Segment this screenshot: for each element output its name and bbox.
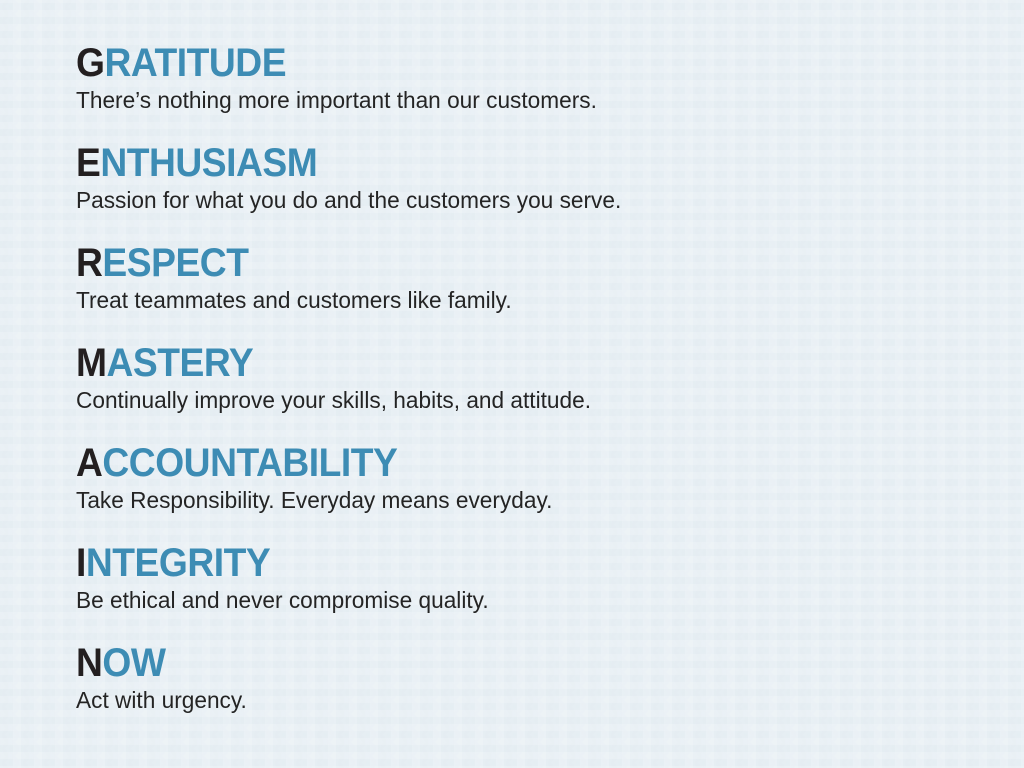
value-heading-initial: I bbox=[76, 541, 86, 585]
value-heading: NOW bbox=[76, 642, 237, 684]
value-heading-rest: NTHUSIASM bbox=[100, 141, 317, 185]
value-description: Take Responsibility. Everyday means ever… bbox=[76, 487, 552, 514]
value-heading: ENTHUSIASM bbox=[76, 142, 591, 184]
value-heading-rest: ESPECT bbox=[102, 241, 248, 285]
value-heading: GRATITUDE bbox=[76, 42, 568, 84]
value-heading-rest: ASTERY bbox=[107, 341, 254, 385]
value-block-now: NOW Act with urgency. bbox=[76, 642, 249, 714]
value-heading-initial: N bbox=[76, 641, 102, 685]
value-heading-rest: NTEGRITY bbox=[86, 541, 270, 585]
value-heading-initial: G bbox=[76, 41, 104, 85]
value-description: Continually improve your skills, habits,… bbox=[76, 387, 591, 414]
value-heading-rest: RATITUDE bbox=[104, 41, 286, 85]
value-heading-rest: OW bbox=[102, 641, 165, 685]
value-heading: ACCOUNTABILITY bbox=[76, 442, 526, 484]
value-description: Passion for what you do and the customer… bbox=[76, 187, 621, 214]
value-heading-initial: A bbox=[76, 441, 102, 485]
value-block-accountability: ACCOUNTABILITY Take Responsibility. Ever… bbox=[76, 442, 560, 514]
value-description: There’s nothing more important than our … bbox=[76, 87, 597, 114]
value-block-respect: RESPECT Treat teammates and customers li… bbox=[76, 242, 518, 314]
value-block-gratitude: GRATITUDE There’s nothing more important… bbox=[76, 42, 605, 114]
value-heading-rest: CCOUNTABILITY bbox=[102, 441, 397, 485]
value-heading-initial: M bbox=[76, 341, 107, 385]
value-description: Act with urgency. bbox=[76, 687, 247, 714]
value-heading: INTEGRITY bbox=[76, 542, 466, 584]
value-heading: MASTERY bbox=[76, 342, 562, 384]
value-block-enthusiasm: ENTHUSIASM Passion for what you do and t… bbox=[76, 142, 630, 214]
value-block-mastery: MASTERY Continually improve your skills,… bbox=[76, 342, 599, 414]
value-block-integrity: INTEGRITY Be ethical and never compromis… bbox=[76, 542, 495, 614]
value-heading-initial: R bbox=[76, 241, 102, 285]
values-poster: GRATITUDE There’s nothing more important… bbox=[0, 0, 1024, 768]
value-description: Treat teammates and customers like famil… bbox=[76, 287, 512, 314]
value-description: Be ethical and never compromise quality. bbox=[76, 587, 489, 614]
value-heading-initial: E bbox=[76, 141, 100, 185]
value-heading: RESPECT bbox=[76, 242, 487, 284]
